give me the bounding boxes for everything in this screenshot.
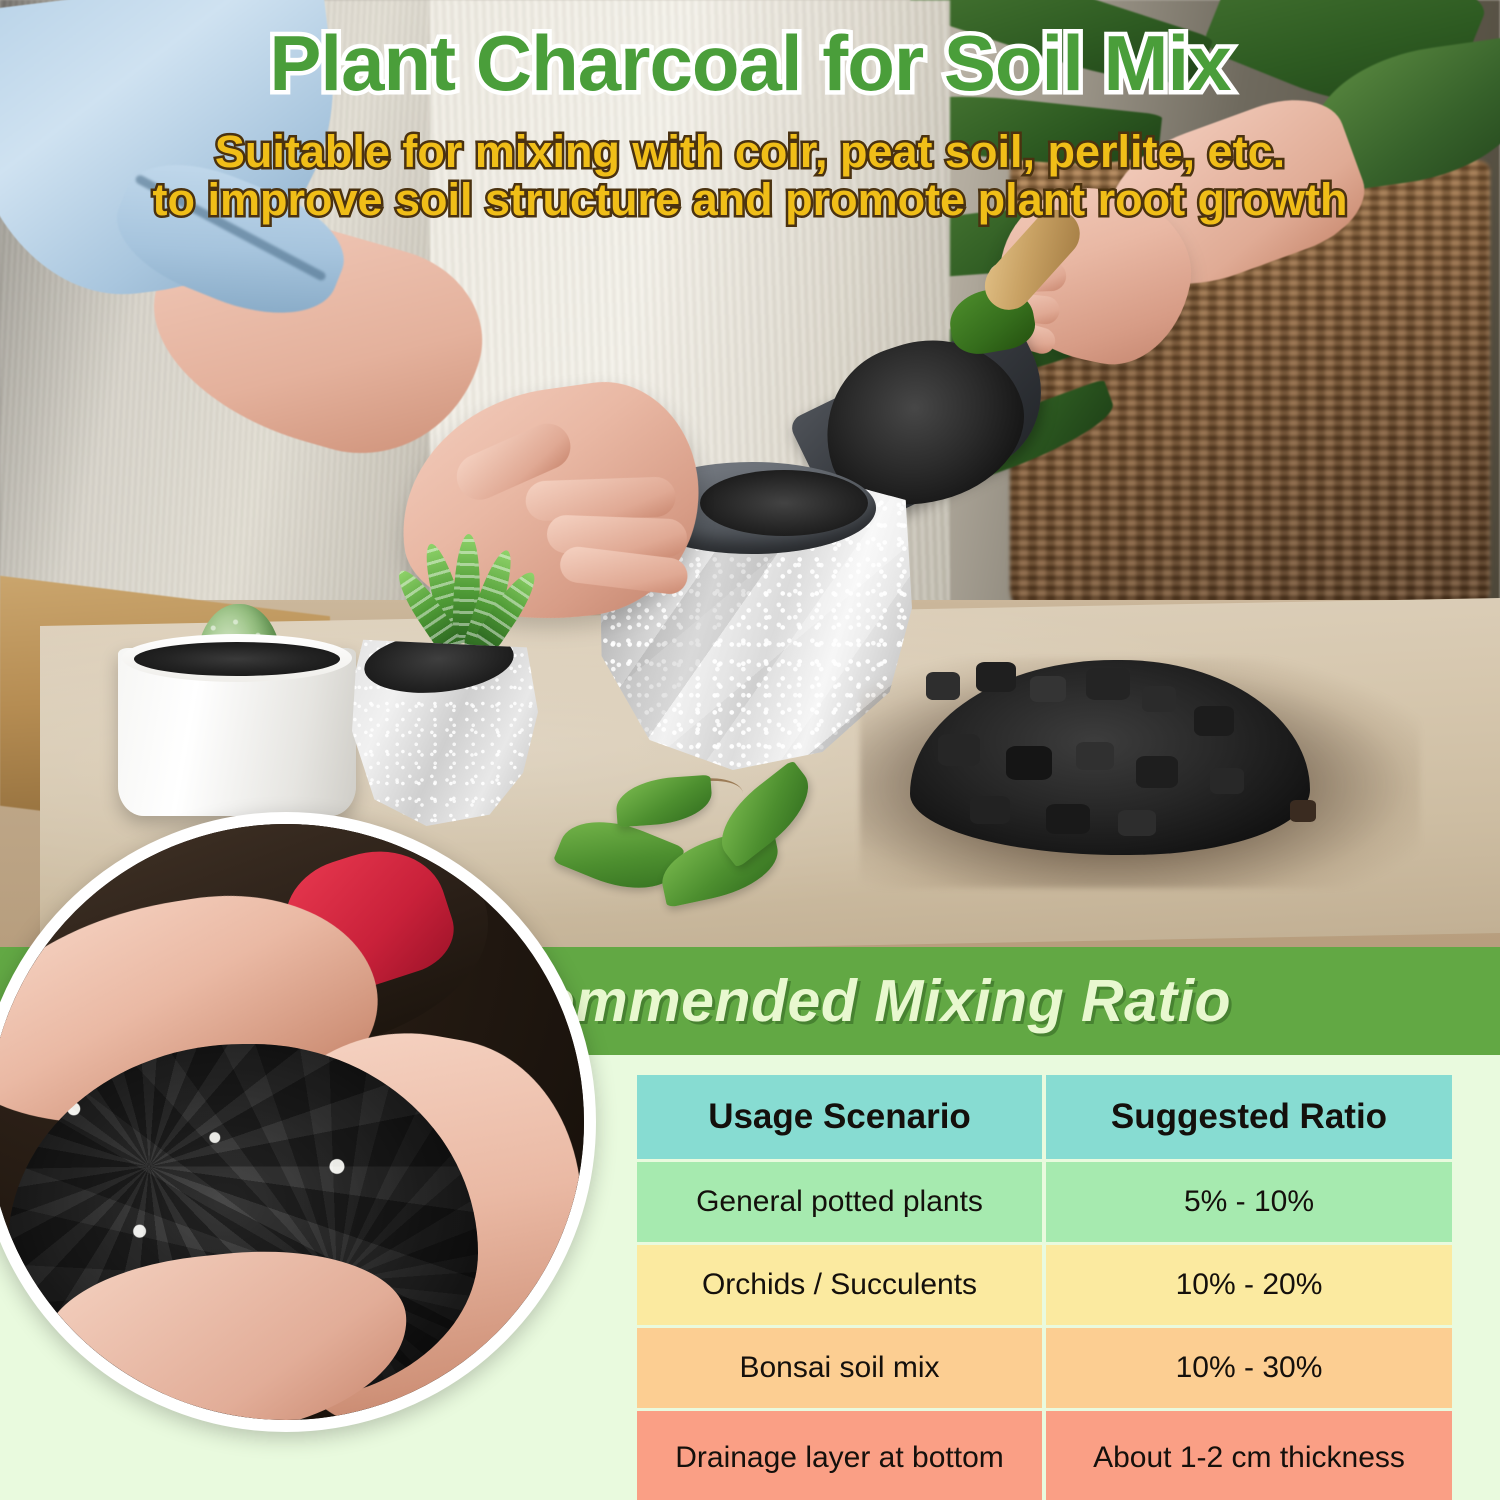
table-row: Orchids / Succulents: [637, 1245, 1042, 1325]
charcoal-chunk: [926, 672, 960, 700]
page-title: Plant Charcoal for Soil Mix: [0, 18, 1500, 109]
subtitle-line-2: to improve soil structure and promote pl…: [0, 176, 1500, 224]
charcoal-chunk: [1290, 800, 1316, 822]
charcoal-chunk: [1046, 804, 1090, 834]
charcoal-chunk: [1086, 668, 1130, 700]
leaf-sprig: [560, 760, 840, 910]
table-row: 5% - 10%: [1046, 1162, 1452, 1242]
finger: [525, 476, 676, 521]
page-title-text: Plant Charcoal for Soil Mix: [269, 18, 1230, 109]
mixing-ratio-table: Usage Scenario Suggested Ratio General p…: [637, 1075, 1448, 1493]
infographic-canvas: Plant Charcoal for Soil Mix Suitable for…: [0, 0, 1500, 1500]
charcoal-top-dressing: [134, 642, 340, 676]
charcoal-chunk: [1118, 810, 1156, 836]
charcoal-chunk: [976, 662, 1016, 692]
table-header-scenario: Usage Scenario: [637, 1075, 1042, 1159]
table-row: Drainage layer at bottom: [637, 1411, 1042, 1500]
charcoal-chunk: [1076, 742, 1114, 770]
charcoal-chunk: [1194, 706, 1234, 736]
table-row: Bonsai soil mix: [637, 1328, 1042, 1408]
subtitle-block: Suitable for mixing with coir, peat soil…: [0, 128, 1500, 223]
table-row: 10% - 20%: [1046, 1245, 1452, 1325]
charcoal-chunk: [970, 796, 1010, 824]
charcoal-chunk: [1006, 746, 1052, 780]
subtitle-line-1: Suitable for mixing with coir, peat soil…: [0, 128, 1500, 176]
charcoal-chunk: [1136, 756, 1178, 788]
table-row: 10% - 30%: [1046, 1328, 1452, 1408]
table-row: About 1-2 cm thickness: [1046, 1411, 1452, 1500]
table-header-ratio: Suggested Ratio: [1046, 1075, 1452, 1159]
charcoal-chunk: [1142, 686, 1176, 712]
charcoal-chunk: [938, 734, 980, 766]
charcoal-pile: [880, 628, 1410, 878]
table-row: General potted plants: [637, 1162, 1042, 1242]
charcoal-chunk: [1210, 768, 1244, 794]
charcoal-closeup-inset-photo: [0, 812, 596, 1432]
charcoal-inside-pot: [700, 470, 868, 536]
white-round-pot: [118, 648, 356, 816]
charcoal-chunk: [1030, 676, 1066, 702]
